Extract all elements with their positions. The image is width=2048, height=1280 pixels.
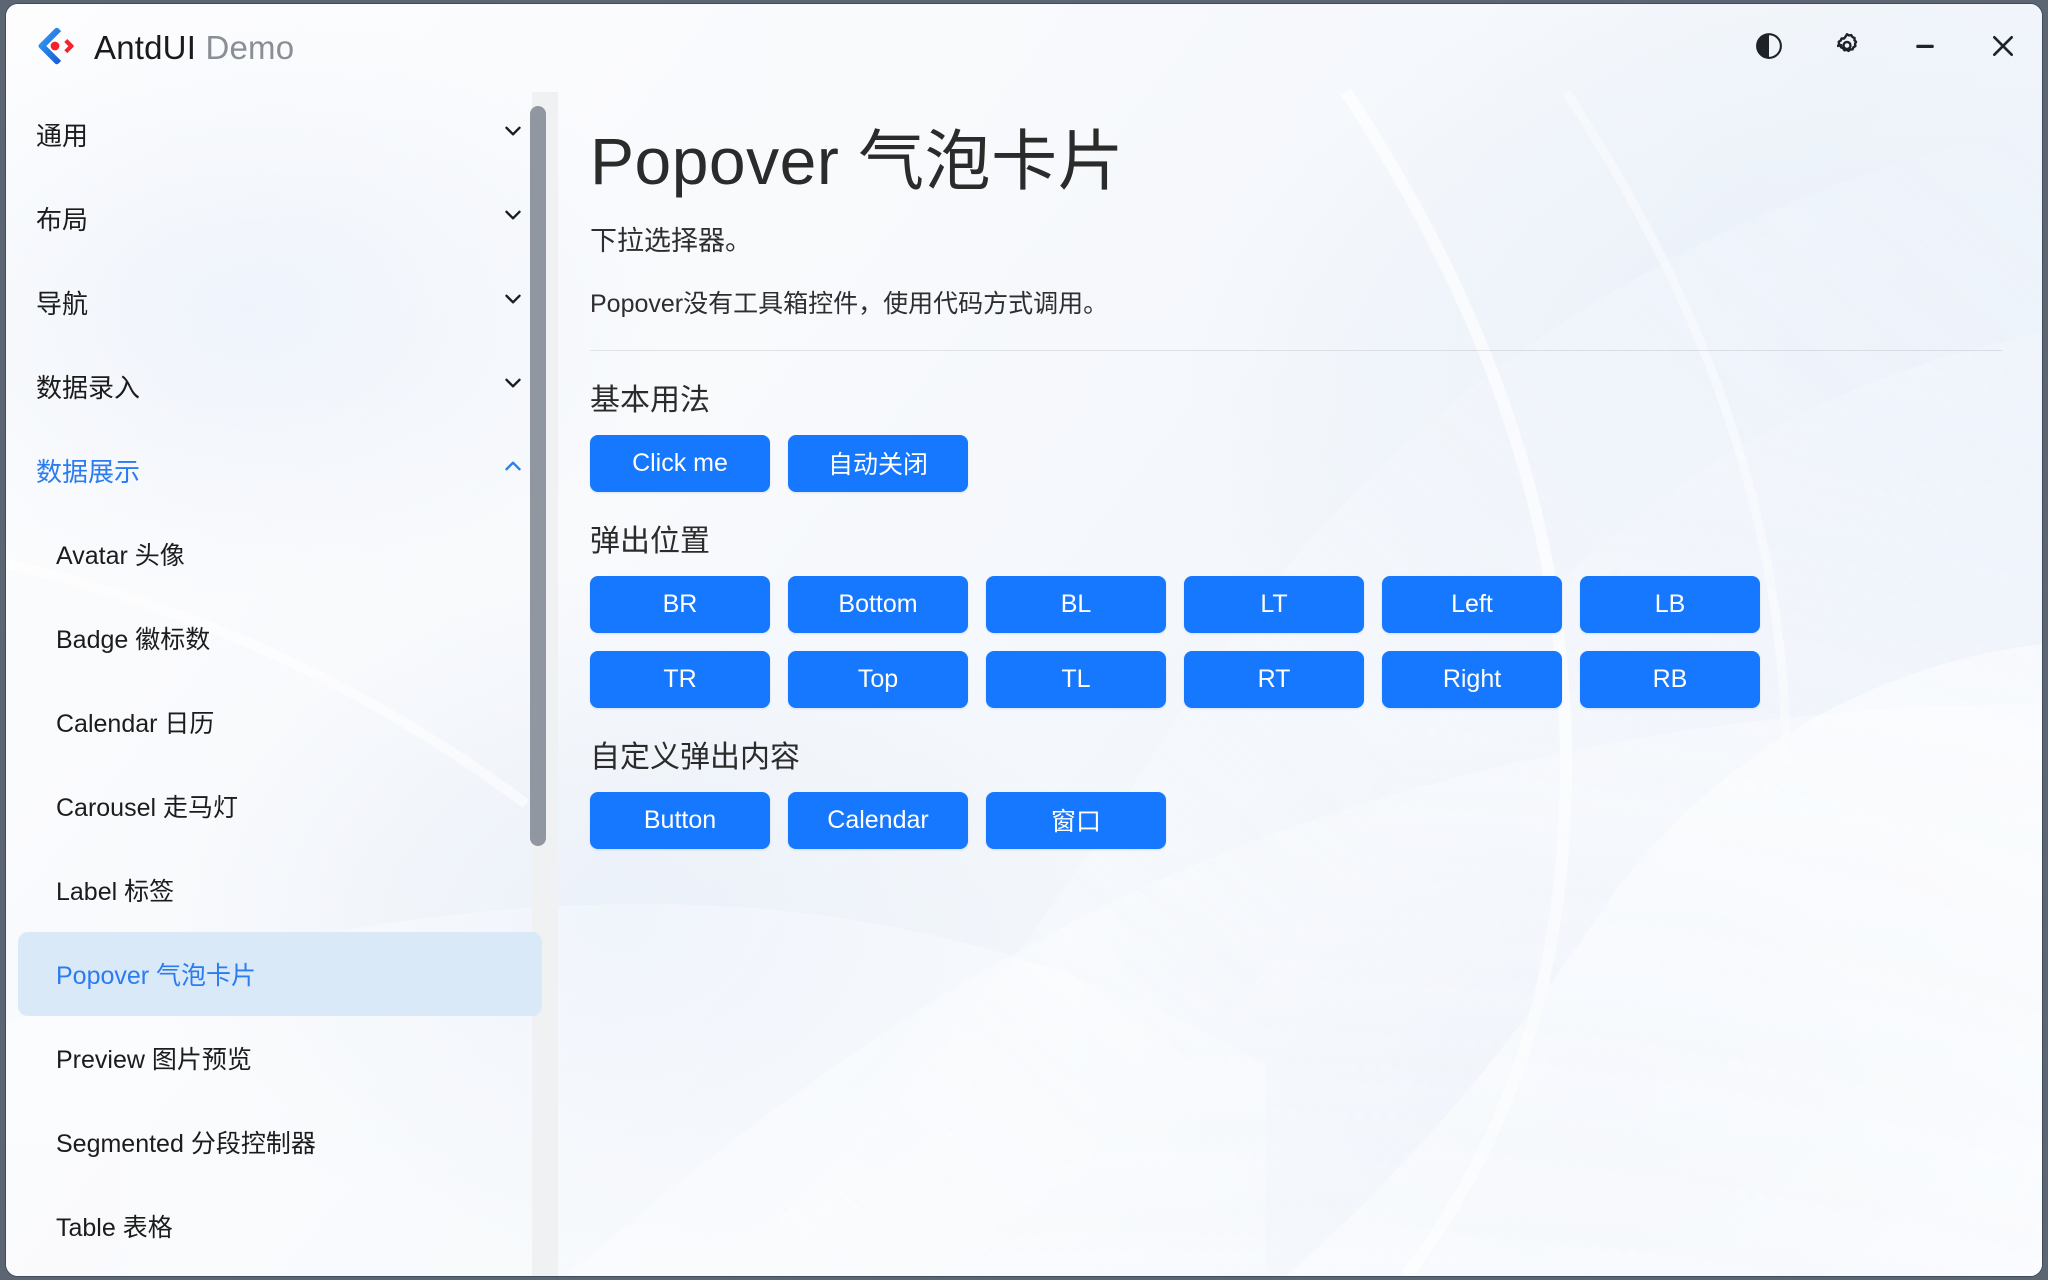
sidebar-item-popover[interactable]: Popover 气泡卡片 xyxy=(18,932,542,1016)
sidebar-item-badge[interactable]: Badge 徽标数 xyxy=(18,596,542,680)
chevron-down-icon xyxy=(500,202,526,235)
sidebar-item-label: Segmented 分段控制器 xyxy=(56,1124,316,1160)
sidebar-group-general[interactable]: 通用 xyxy=(6,92,566,176)
close-button[interactable] xyxy=(1964,15,2042,81)
placement-rb-button[interactable]: RB xyxy=(1580,651,1760,708)
sidebar-group-layout[interactable]: 布局 xyxy=(6,176,566,260)
sidebar-group-label: 导航 xyxy=(36,284,88,321)
section-heading-custom-content: 自定义弹出内容 xyxy=(590,732,2002,776)
content-title: Popover 气泡卡片 xyxy=(590,120,2002,203)
placement-tr-button[interactable]: TR xyxy=(590,651,770,708)
sidebar-group-label: 数据录入 xyxy=(36,368,140,405)
placement-bottom-button[interactable]: Bottom xyxy=(788,576,968,633)
app-brand: AntdUI Demo xyxy=(34,25,294,72)
placement-right-button[interactable]: Right xyxy=(1382,651,1562,708)
sidebar-group-label: 数据展示 xyxy=(36,452,140,489)
sidebar-item-carousel[interactable]: Carousel 走马灯 xyxy=(18,764,542,848)
placement-bl-button[interactable]: BL xyxy=(986,576,1166,633)
auto-close-button[interactable]: 自动关闭 xyxy=(788,435,968,492)
title-bar: AntdUI Demo xyxy=(6,4,2042,92)
placement-top-button[interactable]: Top xyxy=(788,651,968,708)
section-heading-placement: 弹出位置 xyxy=(590,516,2002,560)
placement-button-grid: BR Bottom BL LT Left LB TR Top TL RT Rig… xyxy=(590,576,2002,708)
custom-calendar-button[interactable]: Calendar xyxy=(788,792,968,849)
close-icon xyxy=(1987,30,2019,67)
sidebar-group-data-display[interactable]: 数据展示 xyxy=(6,428,566,512)
custom-window-button[interactable]: 窗口 xyxy=(986,792,1166,849)
sidebar-item-table[interactable]: Table 表格 xyxy=(18,1184,542,1268)
chevron-down-icon xyxy=(500,370,526,403)
placement-br-button[interactable]: BR xyxy=(590,576,770,633)
sidebar-item-segmented[interactable]: Segmented 分段控制器 xyxy=(18,1100,542,1184)
custom-button-button[interactable]: Button xyxy=(590,792,770,849)
sidebar: 通用 布局 导航 数据录入 xyxy=(6,92,566,1276)
sidebar-item-label: Avatar 头像 xyxy=(56,536,185,572)
sidebar-item-calendar[interactable]: Calendar 日历 xyxy=(18,680,542,764)
basic-usage-button-row: Click me 自动关闭 xyxy=(590,435,2002,492)
main-content: Popover 气泡卡片 下拉选择器。 Popover没有工具箱控件，使用代码方… xyxy=(566,92,2042,1276)
sidebar-item-label: Badge 徽标数 xyxy=(56,620,210,656)
sidebar-item-preview[interactable]: Preview 图片预览 xyxy=(18,1016,542,1100)
app-name: AntdUI xyxy=(94,29,196,66)
placement-row-2: TR Top TL RT Right RB xyxy=(590,651,2002,708)
placement-tl-button[interactable]: TL xyxy=(986,651,1166,708)
chevron-down-icon xyxy=(500,286,526,319)
minimize-icon xyxy=(1910,31,1940,66)
settings-button[interactable] xyxy=(1808,15,1886,81)
page-title: AntdUI Demo xyxy=(94,29,294,67)
sidebar-scroll-area: 通用 布局 导航 数据录入 xyxy=(6,92,566,1276)
section-heading-basic: 基本用法 xyxy=(590,375,2002,419)
sidebar-item-label: Popover 气泡卡片 xyxy=(56,956,256,992)
sidebar-item-avatar[interactable]: Avatar 头像 xyxy=(18,512,542,596)
sidebar-item-label[interactable]: Label 标签 xyxy=(18,848,542,932)
contrast-circle-icon xyxy=(1754,31,1784,66)
gear-icon xyxy=(1831,30,1863,67)
click-me-button[interactable]: Click me xyxy=(590,435,770,492)
section-divider xyxy=(590,350,2002,351)
custom-content-button-row: Button Calendar 窗口 xyxy=(590,792,2002,849)
sidebar-group-label: 布局 xyxy=(36,200,88,237)
minimize-button[interactable] xyxy=(1886,15,1964,81)
placement-lb-button[interactable]: LB xyxy=(1580,576,1760,633)
theme-toggle-button[interactable] xyxy=(1730,15,1808,81)
sidebar-item-label: Preview 图片预览 xyxy=(56,1040,252,1076)
app-suffix: Demo xyxy=(205,29,294,66)
placement-lt-button[interactable]: LT xyxy=(1184,576,1364,633)
placement-row-1: BR Bottom BL LT Left LB xyxy=(590,576,2002,633)
sidebar-item-label: Label 标签 xyxy=(56,872,174,908)
sidebar-group-label: 通用 xyxy=(36,116,88,153)
chevron-down-icon xyxy=(500,118,526,151)
sidebar-group-data-entry[interactable]: 数据录入 xyxy=(6,344,566,428)
sidebar-item-label: Calendar 日历 xyxy=(56,704,214,740)
content-description: 下拉选择器。 xyxy=(590,219,2002,258)
sidebar-group-navigation[interactable]: 导航 xyxy=(6,260,566,344)
app-window: AntdUI Demo xyxy=(6,4,2042,1276)
placement-rt-button[interactable]: RT xyxy=(1184,651,1364,708)
placement-left-button[interactable]: Left xyxy=(1382,576,1562,633)
antd-logo-icon xyxy=(34,25,76,72)
sidebar-item-label: Table 表格 xyxy=(56,1208,173,1244)
chevron-up-icon xyxy=(500,454,526,487)
content-note: Popover没有工具箱控件，使用代码方式调用。 xyxy=(590,284,2002,320)
window-controls xyxy=(1730,15,2042,81)
sidebar-item-label: Carousel 走马灯 xyxy=(56,788,238,824)
